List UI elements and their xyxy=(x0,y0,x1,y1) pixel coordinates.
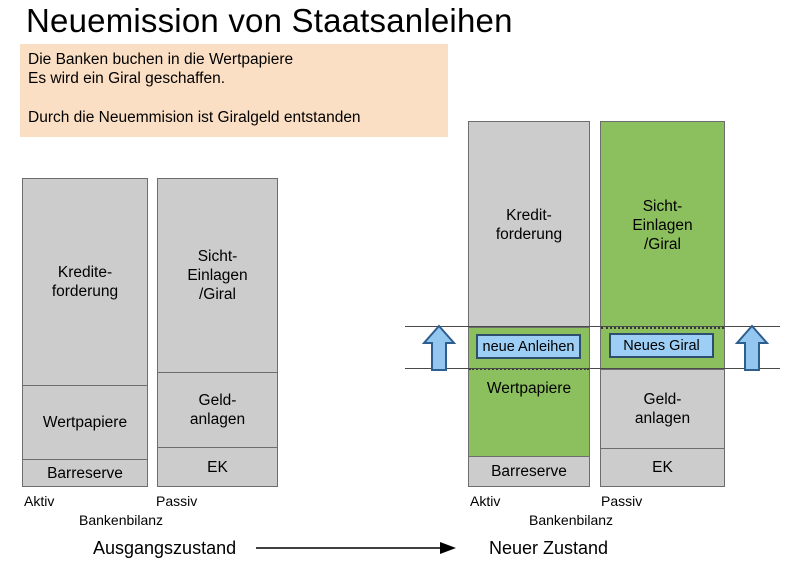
note-line-3: Durch die Neuemmision ist Giralgeld ents… xyxy=(28,108,361,127)
segment-label-line-1: Sicht- xyxy=(643,197,683,216)
segment-label-line-3: /Giral xyxy=(644,235,681,254)
before-passiv-segment-sichteinlagen: Sicht- Einlagen /Giral xyxy=(158,179,277,372)
segment-label-line-1: Wertpapiere xyxy=(43,413,127,432)
segment-label-line-1: Sicht- xyxy=(198,247,238,266)
segment-label-line-2: forderung xyxy=(496,225,562,244)
after-passiv-segment-geldanlagen: Geld- anlagen xyxy=(601,369,724,448)
chip-label: Neues Giral xyxy=(623,338,700,354)
chip-label: neue Anleihen xyxy=(483,339,575,355)
segment-label-line-1: Kredit- xyxy=(506,206,552,225)
segment-label-line-1: Geld- xyxy=(199,391,237,410)
segment-label-line-1: Barreserve xyxy=(47,464,123,483)
segment-label-line-3: /Giral xyxy=(199,285,236,304)
after-aktiv-segment-barreserve: Barreserve xyxy=(469,456,589,486)
before-passiv-column: Sicht- Einlagen /Giral Geld- anlagen EK xyxy=(157,178,278,487)
after-passiv-column: Sicht- Einlagen /Giral Geld- anlagen EK xyxy=(600,121,725,487)
segment-label-line-2: Einlagen xyxy=(187,266,247,285)
segment-label-line-1: Barreserve xyxy=(491,462,567,481)
segment-label-line-2: Einlagen xyxy=(632,216,692,235)
note-line-1: Die Banken buchen in die Wertpapiere xyxy=(28,50,293,69)
before-aktiv-label: Aktiv xyxy=(24,493,54,509)
segment-label-line-1: EK xyxy=(652,458,673,477)
segment-label-line-2: forderung xyxy=(52,282,118,301)
segment-label-line-1: Wertpapiere xyxy=(487,379,571,398)
note-line-2: Es wird ein Giral geschaffen. xyxy=(28,69,225,88)
reference-rule-upper xyxy=(405,326,780,327)
before-aktiv-segment-barreserve: Barreserve xyxy=(23,459,147,486)
after-passiv-dotted-separator xyxy=(601,327,724,329)
segment-label-line-1: Geld- xyxy=(644,390,682,409)
before-passiv-segment-ek: EK xyxy=(158,447,277,486)
after-sheet-label: Bankenbilanz xyxy=(529,512,613,528)
after-aktiv-segment-kreditforderung: Kredit- forderung xyxy=(469,122,589,327)
segment-label-line-1: Kredite- xyxy=(58,263,112,282)
before-passiv-label: Passiv xyxy=(156,493,197,509)
segment-label-line-1: EK xyxy=(207,458,228,477)
after-aktiv-chip-neue-anleihen: neue Anleihen xyxy=(476,334,581,359)
reference-rule-lower xyxy=(405,368,780,369)
after-passiv-chip-neues-giral: Neues Giral xyxy=(609,333,714,358)
before-passiv-segment-geldanlagen: Geld- anlagen xyxy=(158,372,277,447)
left-up-arrow-icon xyxy=(422,324,456,372)
right-up-arrow-icon xyxy=(735,324,769,372)
after-state-label: Neuer Zustand xyxy=(489,537,608,559)
before-aktiv-column: Kredite- forderung Wertpapiere Barreserv… xyxy=(22,178,148,487)
before-state-label: Ausgangszustand xyxy=(93,537,236,559)
after-passiv-label: Passiv xyxy=(601,493,642,509)
before-aktiv-segment-kreditforderung: Kredite- forderung xyxy=(23,179,147,385)
segment-label-line-2: anlagen xyxy=(190,410,245,429)
note-box: Die Banken buchen in die Wertpapiere Es … xyxy=(20,44,448,137)
before-sheet-label: Bankenbilanz xyxy=(79,512,163,528)
after-aktiv-label: Aktiv xyxy=(470,493,500,509)
after-aktiv-segment-wertpapiere: Wertpapiere xyxy=(469,369,589,456)
after-aktiv-column: Kredit- forderung Wertpapiere Barreserve xyxy=(468,121,590,487)
transition-right-arrow-icon xyxy=(256,538,456,558)
segment-label-line-2: anlagen xyxy=(635,409,690,428)
after-passiv-segment-sichteinlagen: Sicht- Einlagen /Giral xyxy=(601,122,724,328)
after-passiv-segment-ek: EK xyxy=(601,448,724,486)
page-title: Neuemission von Staatsanleihen xyxy=(26,2,513,40)
slide-canvas: Neuemission von Staatsanleihen Die Banke… xyxy=(0,0,800,578)
before-aktiv-segment-wertpapiere: Wertpapiere xyxy=(23,385,147,459)
